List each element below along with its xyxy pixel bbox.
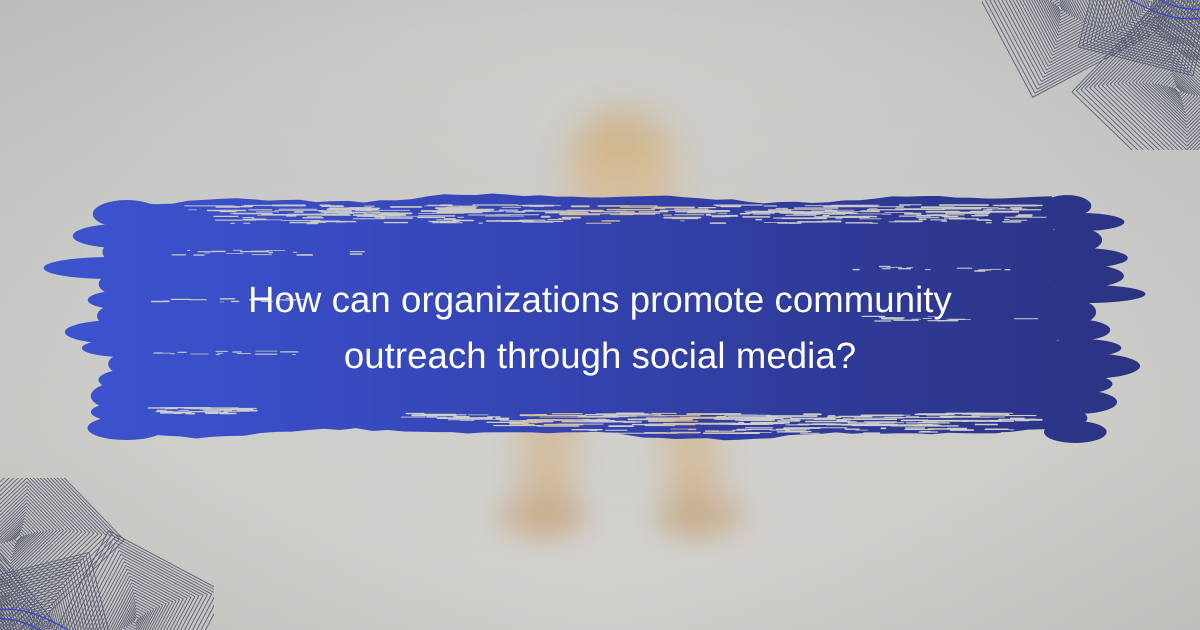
page-title: How can organizations promote community …: [0, 272, 1200, 384]
social-card-canvas: How can organizations promote community …: [0, 0, 1200, 630]
